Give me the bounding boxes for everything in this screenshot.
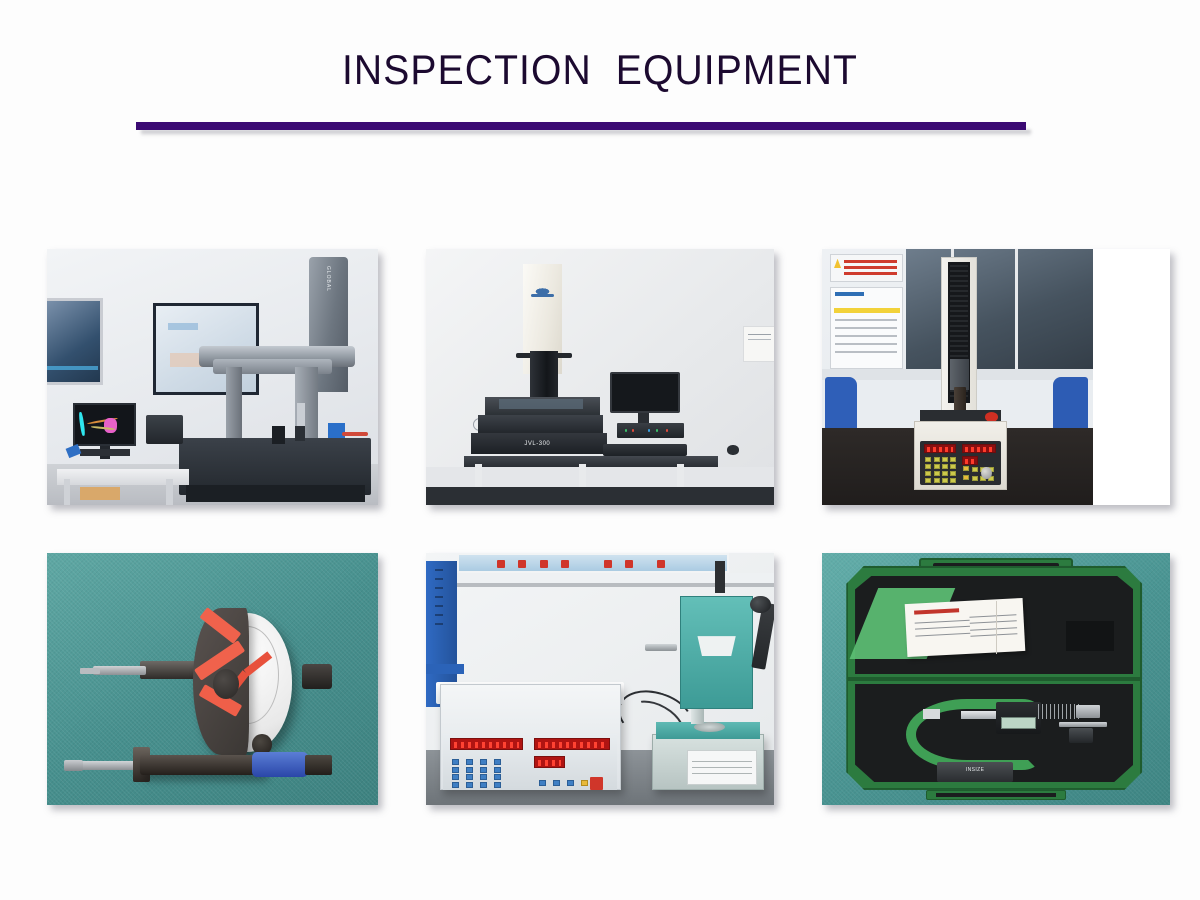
cmm-desk-leg-left — [64, 479, 71, 505]
keypad-key[interactable] — [972, 467, 978, 472]
certificate-line-6 — [970, 627, 1017, 630]
led-display-right — [962, 444, 996, 453]
gauge-extension-rod — [93, 666, 146, 675]
micrometer-setting-standard — [1059, 722, 1108, 727]
keypad-key[interactable] — [942, 471, 948, 476]
tensile-upper-grip — [950, 359, 969, 390]
controller-key[interactable] — [494, 767, 501, 773]
cmm-scene: GLOBAL — [47, 249, 378, 505]
page-title: INSPECTION EQUIPMENT — [42, 46, 1158, 94]
window-mullion-2 — [1015, 249, 1018, 372]
keypad-key[interactable] — [950, 471, 956, 476]
controller-key[interactable] — [452, 774, 459, 780]
keypad-key[interactable] — [934, 457, 940, 462]
vmm-scene: JVL-300 — [426, 249, 774, 505]
tensile-window — [906, 249, 1093, 372]
keypad-key[interactable] — [950, 457, 956, 462]
vmm-bench-leg-2 — [579, 464, 586, 487]
cmm-brand-label: GLOBAL — [325, 266, 331, 292]
cmm-red-hose — [342, 432, 368, 436]
keypad-key[interactable] — [934, 478, 940, 483]
keypad-key[interactable] — [925, 457, 931, 462]
banner-char-1 — [497, 560, 505, 568]
keypad-key[interactable] — [934, 471, 940, 476]
cmm-screen-trace-cyan — [78, 412, 85, 437]
certificate-line-4 — [969, 614, 1016, 617]
stand-blue-rack-shelf — [426, 664, 464, 674]
certificate-line-2 — [915, 626, 969, 630]
vmm-keyboard — [603, 444, 687, 457]
vmm-mouse — [727, 445, 739, 455]
instruction-line-4 — [835, 343, 898, 345]
cmm-desk-leg-right — [166, 479, 173, 505]
photo-torque-test-stand[interactable] — [426, 553, 774, 805]
divider-bar — [136, 122, 1026, 130]
cmm-fixture-a — [272, 426, 285, 444]
vmm-monitor-stand — [638, 413, 648, 423]
tensile-instruction-board — [830, 287, 903, 369]
banner-char-5 — [604, 560, 612, 568]
micrometer-wrench — [1069, 728, 1093, 743]
case-latch-inner — [936, 793, 1057, 797]
keypad-key[interactable] — [950, 464, 956, 469]
controller-key[interactable] — [466, 767, 473, 773]
keypad-key[interactable] — [925, 478, 931, 483]
gauge-end-cap — [302, 664, 332, 689]
vmm-optics-housing — [530, 351, 558, 402]
test-stand-lever-knob[interactable] — [750, 596, 771, 614]
instruction-line-1 — [835, 319, 898, 321]
calibration-certificate — [904, 598, 1025, 657]
vmm-wall-notice — [743, 326, 774, 362]
keypad-key[interactable] — [925, 471, 931, 476]
certificate-line-3 — [915, 632, 969, 636]
keypad-key[interactable] — [950, 478, 956, 483]
controller-key[interactable] — [480, 782, 487, 788]
test-stand-adjust-handle[interactable] — [645, 644, 676, 652]
vmm-controller-box — [617, 423, 683, 438]
vmm-indicator-blue — [648, 429, 650, 432]
stand-wall-banner — [457, 553, 728, 573]
gauge-measuring-tip — [80, 668, 100, 674]
controller-led-segs-right — [538, 742, 607, 748]
vmm-indicator-red — [632, 429, 634, 432]
banner-char-6 — [625, 560, 633, 568]
vmm-indicator-green-2 — [656, 429, 658, 432]
led-segments-left — [927, 447, 954, 452]
cmm-shelf-box — [80, 487, 120, 500]
instruction-board-highlight — [834, 308, 900, 314]
controller-key[interactable] — [480, 767, 487, 773]
tool-tip — [64, 760, 84, 771]
divider-shadow — [141, 130, 1031, 136]
photo-digital-micrometer[interactable]: INSIZE — [822, 553, 1170, 805]
led-display-small — [962, 456, 978, 465]
controller-led-segs-left — [454, 742, 519, 748]
certificate-line-7 — [970, 633, 1017, 636]
tool-end-fitting — [305, 755, 331, 775]
controller-key[interactable] — [494, 782, 501, 788]
dial-center-hub — [213, 669, 239, 699]
controller-key[interactable] — [480, 759, 487, 765]
photo-coordinate-measuring-machine[interactable]: GLOBAL — [47, 249, 378, 505]
hazard-triangle-icon — [834, 259, 841, 268]
tensile-scene — [822, 249, 1093, 505]
controller-power-button[interactable] — [590, 777, 604, 790]
controller-key[interactable] — [466, 782, 473, 788]
vmm-model-label: JVL-300 — [513, 441, 562, 447]
photo-dial-bore-gauge[interactable] — [47, 553, 378, 805]
controller-function-key[interactable] — [553, 780, 560, 786]
title-block: INSPECTION EQUIPMENT — [0, 46, 1200, 94]
keypad-key[interactable] — [934, 464, 940, 469]
controller-led-segs-small — [538, 760, 561, 766]
test-stand-top-screw — [715, 561, 725, 594]
cmm-keyboard — [80, 449, 130, 457]
tensile-warning-sign — [830, 254, 903, 282]
vmm-glass-plate — [499, 399, 583, 409]
controller-function-key-amber[interactable] — [581, 780, 588, 786]
keypad-key-down[interactable] — [963, 475, 969, 480]
cmm-window — [47, 298, 103, 385]
instruction-board-header — [835, 292, 864, 297]
vmm-indicator-red-2 — [666, 429, 668, 432]
stand-scene — [426, 553, 774, 805]
controller-key[interactable] — [494, 759, 501, 765]
micrometer-lcd-display — [1001, 717, 1036, 730]
tool-body — [140, 755, 266, 775]
banner-char-4 — [561, 560, 569, 568]
banner-char-7 — [657, 560, 665, 568]
test-stand-spec-label — [687, 750, 757, 785]
vmm-bench-leg-3 — [677, 464, 684, 487]
controller-function-key[interactable] — [539, 780, 546, 786]
vmm-baseboard — [426, 487, 774, 505]
photo-tensile-testing-machine[interactable] — [822, 249, 1170, 505]
banner-char-2 — [518, 560, 526, 568]
led-display-left — [924, 444, 957, 453]
tensile-rotary-knob[interactable] — [981, 467, 992, 480]
controller-key[interactable] — [466, 774, 473, 780]
controller-key[interactable] — [466, 759, 473, 765]
spec-label-line-1 — [692, 761, 751, 762]
controller-key[interactable] — [452, 759, 459, 765]
led-segments-small — [965, 459, 975, 464]
led-segments-right — [965, 447, 993, 452]
cmm-fixture-b — [295, 426, 305, 441]
controller-led-right — [534, 738, 611, 750]
spec-label-line-3 — [692, 773, 751, 774]
certificate-line-5 — [969, 620, 1016, 623]
controller-function-key[interactable] — [567, 780, 574, 786]
controller-led-small — [534, 756, 565, 768]
cmm-granite-base — [186, 485, 365, 503]
instruction-line-2 — [835, 327, 898, 329]
controller-led-left — [450, 738, 523, 750]
vmm-bench-leg-1 — [475, 464, 482, 487]
cmm-left-post — [226, 367, 243, 444]
keypad-key[interactable] — [942, 464, 948, 469]
micrometer-ratchet-sleeve — [1076, 705, 1100, 718]
controller-key[interactable] — [452, 782, 459, 788]
keypad-key[interactable] — [942, 478, 948, 483]
controller-key[interactable] — [494, 774, 501, 780]
keypad-key[interactable] — [942, 457, 948, 462]
instruction-line-3 — [835, 335, 898, 337]
micrometer-brand-text: INSIZE — [937, 767, 1014, 773]
keypad-key-up[interactable] — [963, 466, 969, 471]
instruction-line-5 — [835, 351, 898, 353]
title-divider — [136, 122, 1026, 138]
micrometer-brand-badge: INSIZE — [937, 762, 1014, 782]
certificate-red-header — [914, 609, 959, 615]
vmm-monitor — [610, 372, 680, 413]
controller-key[interactable] — [480, 774, 487, 780]
cmm-screen-trace-magenta — [104, 418, 117, 433]
warning-sign-text-lines — [844, 260, 897, 263]
case-latch[interactable] — [926, 790, 1065, 800]
tool-blue-grip — [252, 752, 308, 777]
gauge-scene — [47, 553, 378, 805]
certificate-line-1 — [915, 620, 969, 624]
photo-video-measuring-machine[interactable]: JVL-300 — [426, 249, 774, 505]
tool-shaft — [80, 761, 140, 770]
photo-gallery-grid: GLOBAL — [47, 249, 1153, 805]
cmm-monitor — [73, 403, 136, 447]
vmm-indicator-green — [625, 429, 627, 432]
micrometer-anvil — [923, 709, 940, 719]
micrometer-scene: INSIZE — [822, 553, 1170, 805]
cmm-blue-fixture — [328, 423, 345, 438]
vmm-stage-middle — [478, 415, 603, 433]
spec-label-line-2 — [692, 767, 751, 768]
banner-char-3 — [540, 560, 548, 568]
keypad-key[interactable] — [972, 476, 978, 481]
vmm-logo-icon — [529, 285, 557, 298]
keypad-key[interactable] — [925, 464, 931, 469]
cmm-printer — [146, 415, 182, 443]
certificate-fold — [996, 601, 997, 654]
test-stand-head-label — [697, 636, 735, 656]
micrometer-thimble — [1038, 704, 1080, 719]
controller-key[interactable] — [452, 767, 459, 773]
slide-root: INSPECTION EQUIPMENT GLOBAL — [0, 0, 1200, 900]
cmm-probe — [297, 403, 305, 429]
case-lid-foam-cutout — [1066, 621, 1115, 651]
